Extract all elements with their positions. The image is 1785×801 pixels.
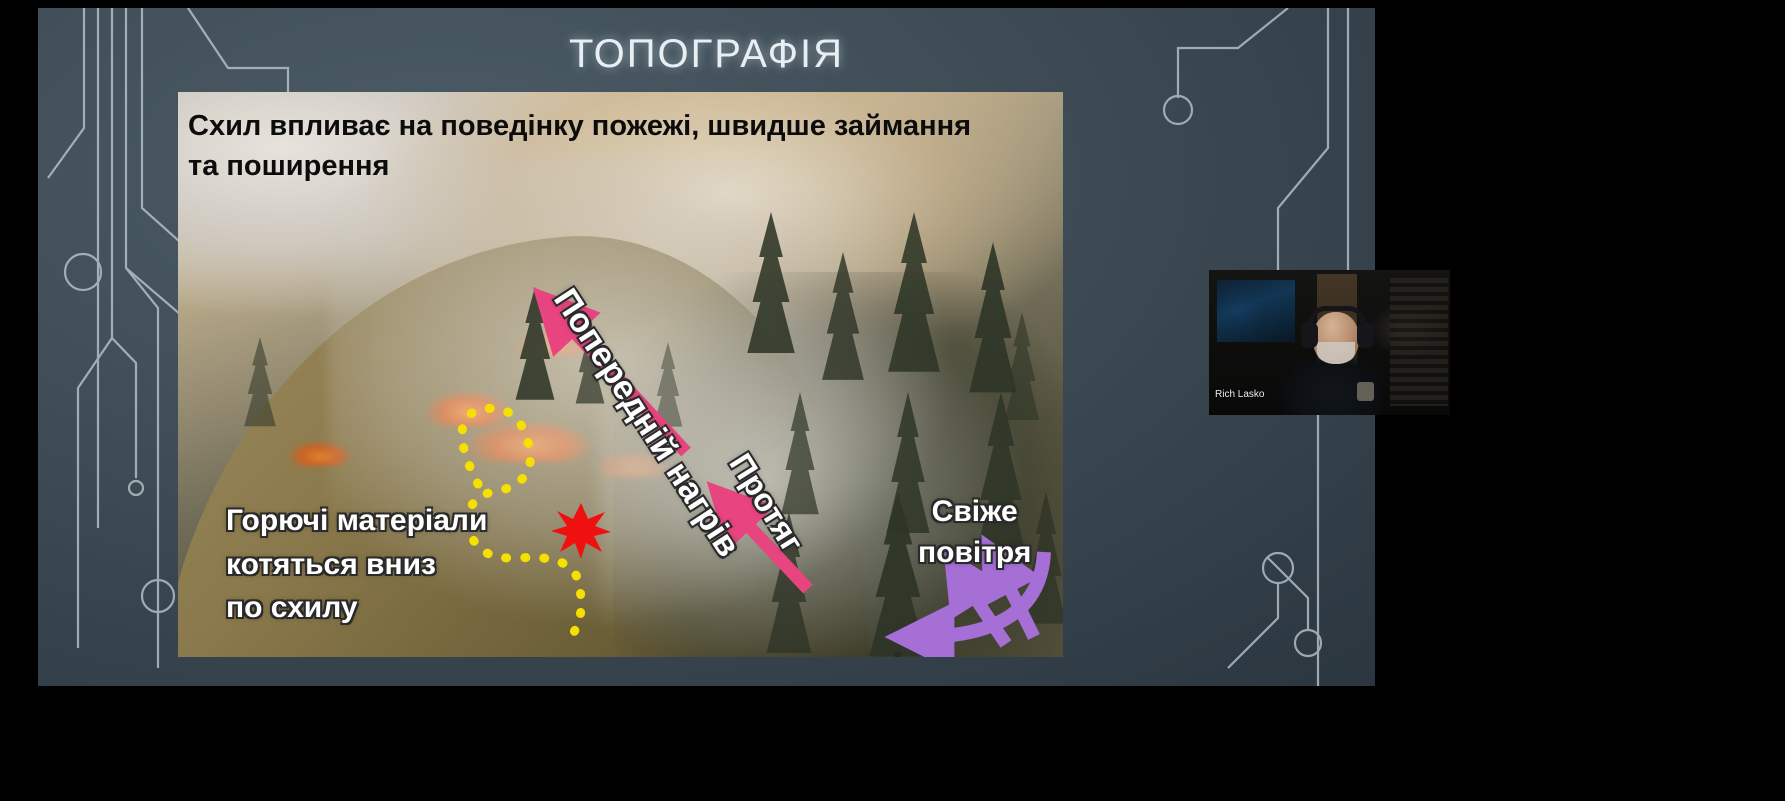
video-bookshelf (1390, 278, 1448, 406)
annotation-fresh-air-line2: повітря (918, 533, 1031, 574)
annotation-rolling-fuels-line2: котяться вниз (226, 543, 487, 587)
video-person-beard (1317, 342, 1355, 364)
headphone-cup-left (1301, 322, 1318, 348)
participant-video-tile[interactable]: Rich Lasko (1209, 270, 1450, 415)
headphone-cup-right (1357, 322, 1374, 348)
ignition-starburst (551, 503, 611, 559)
annotation-rolling-fuels-line3: по схилу (226, 586, 487, 630)
annotation-fresh-air: Свіже повітря (918, 492, 1031, 573)
uniform-badge (1357, 382, 1374, 401)
page-title: ТОПОГРАФІЯ (38, 32, 1375, 77)
shared-slide[interactable]: ТОПОГРАФІЯ (38, 8, 1375, 686)
annotation-rolling-fuels: Горючі матеріали котяться вниз по схилу (226, 499, 487, 630)
wildfire-photo: Схил впливає на поведінку пожежі, швидше… (178, 92, 1063, 657)
annotation-fresh-air-line1: Свіже (918, 492, 1031, 533)
participant-name-label: Rich Lasko (1215, 389, 1264, 400)
meeting-screen: ТОПОГРАФІЯ (0, 0, 1785, 801)
annotation-rolling-fuels-line1: Горючі матеріали (226, 499, 487, 543)
headphones-icon (1309, 306, 1365, 322)
